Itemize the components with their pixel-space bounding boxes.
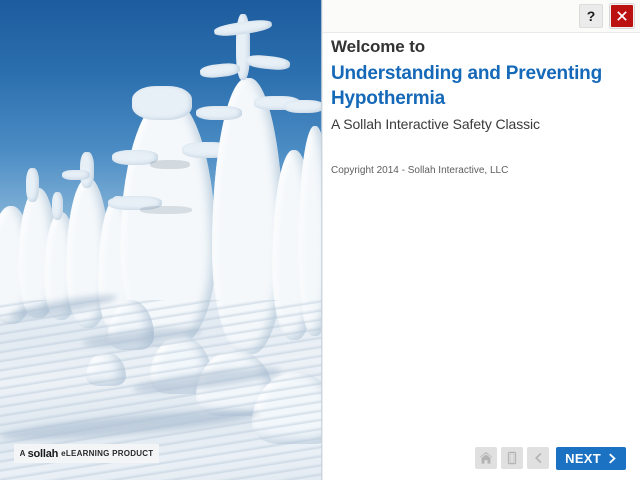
title-block: Welcome to Understanding and Preventing … — [331, 36, 633, 134]
copyright-text: Copyright 2014 - Sollah Interactive, LLC — [331, 165, 508, 176]
content-panel: ? Welcome to Understanding and Preventin… — [323, 0, 640, 480]
next-button-label: NEXT — [565, 452, 601, 465]
winter-scene-photo: A sollah eLEARNING PRODUCT — [0, 0, 322, 480]
tree-right-branch-3 — [196, 106, 242, 120]
notes-button[interactable] — [501, 447, 523, 469]
title-bar: ? — [323, 0, 640, 33]
notes-page-icon — [505, 451, 519, 465]
course-title: Understanding and Preventing Hypothermia — [331, 61, 633, 111]
window-controls: ? — [579, 4, 634, 28]
next-button[interactable]: NEXT — [556, 447, 626, 470]
tree-spire-left-2 — [52, 192, 63, 220]
tree-branch-mid-left — [62, 170, 90, 180]
help-button[interactable]: ? — [579, 4, 603, 28]
tree-far-right-branch — [284, 100, 322, 113]
tree-center-shadow-2 — [140, 206, 192, 214]
close-button[interactable] — [610, 4, 634, 28]
course-subtitle: A Sollah Interactive Safety Classic — [331, 115, 633, 134]
close-x-icon — [616, 10, 628, 22]
navigation-bar: NEXT — [323, 436, 640, 480]
chevron-left-icon — [531, 451, 545, 465]
question-mark-icon: ? — [587, 9, 596, 23]
welcome-heading: Welcome to — [331, 36, 633, 59]
course-player-window: A sollah eLEARNING PRODUCT ? Welcome to … — [0, 0, 640, 480]
tree-spire-left-1 — [26, 168, 39, 202]
back-button[interactable] — [527, 447, 549, 469]
tree-center-crown — [132, 86, 192, 120]
home-icon — [479, 451, 493, 465]
logo-brand: sollah — [28, 448, 59, 460]
sollah-elearning-logo: A sollah eLEARNING PRODUCT — [14, 444, 159, 463]
tree-center-shadow-1 — [150, 160, 190, 169]
home-button[interactable] — [475, 447, 497, 469]
logo-suffix: eLEARNING PRODUCT — [61, 449, 153, 458]
chevron-right-icon — [606, 452, 619, 465]
logo-prefix: A — [20, 449, 26, 458]
